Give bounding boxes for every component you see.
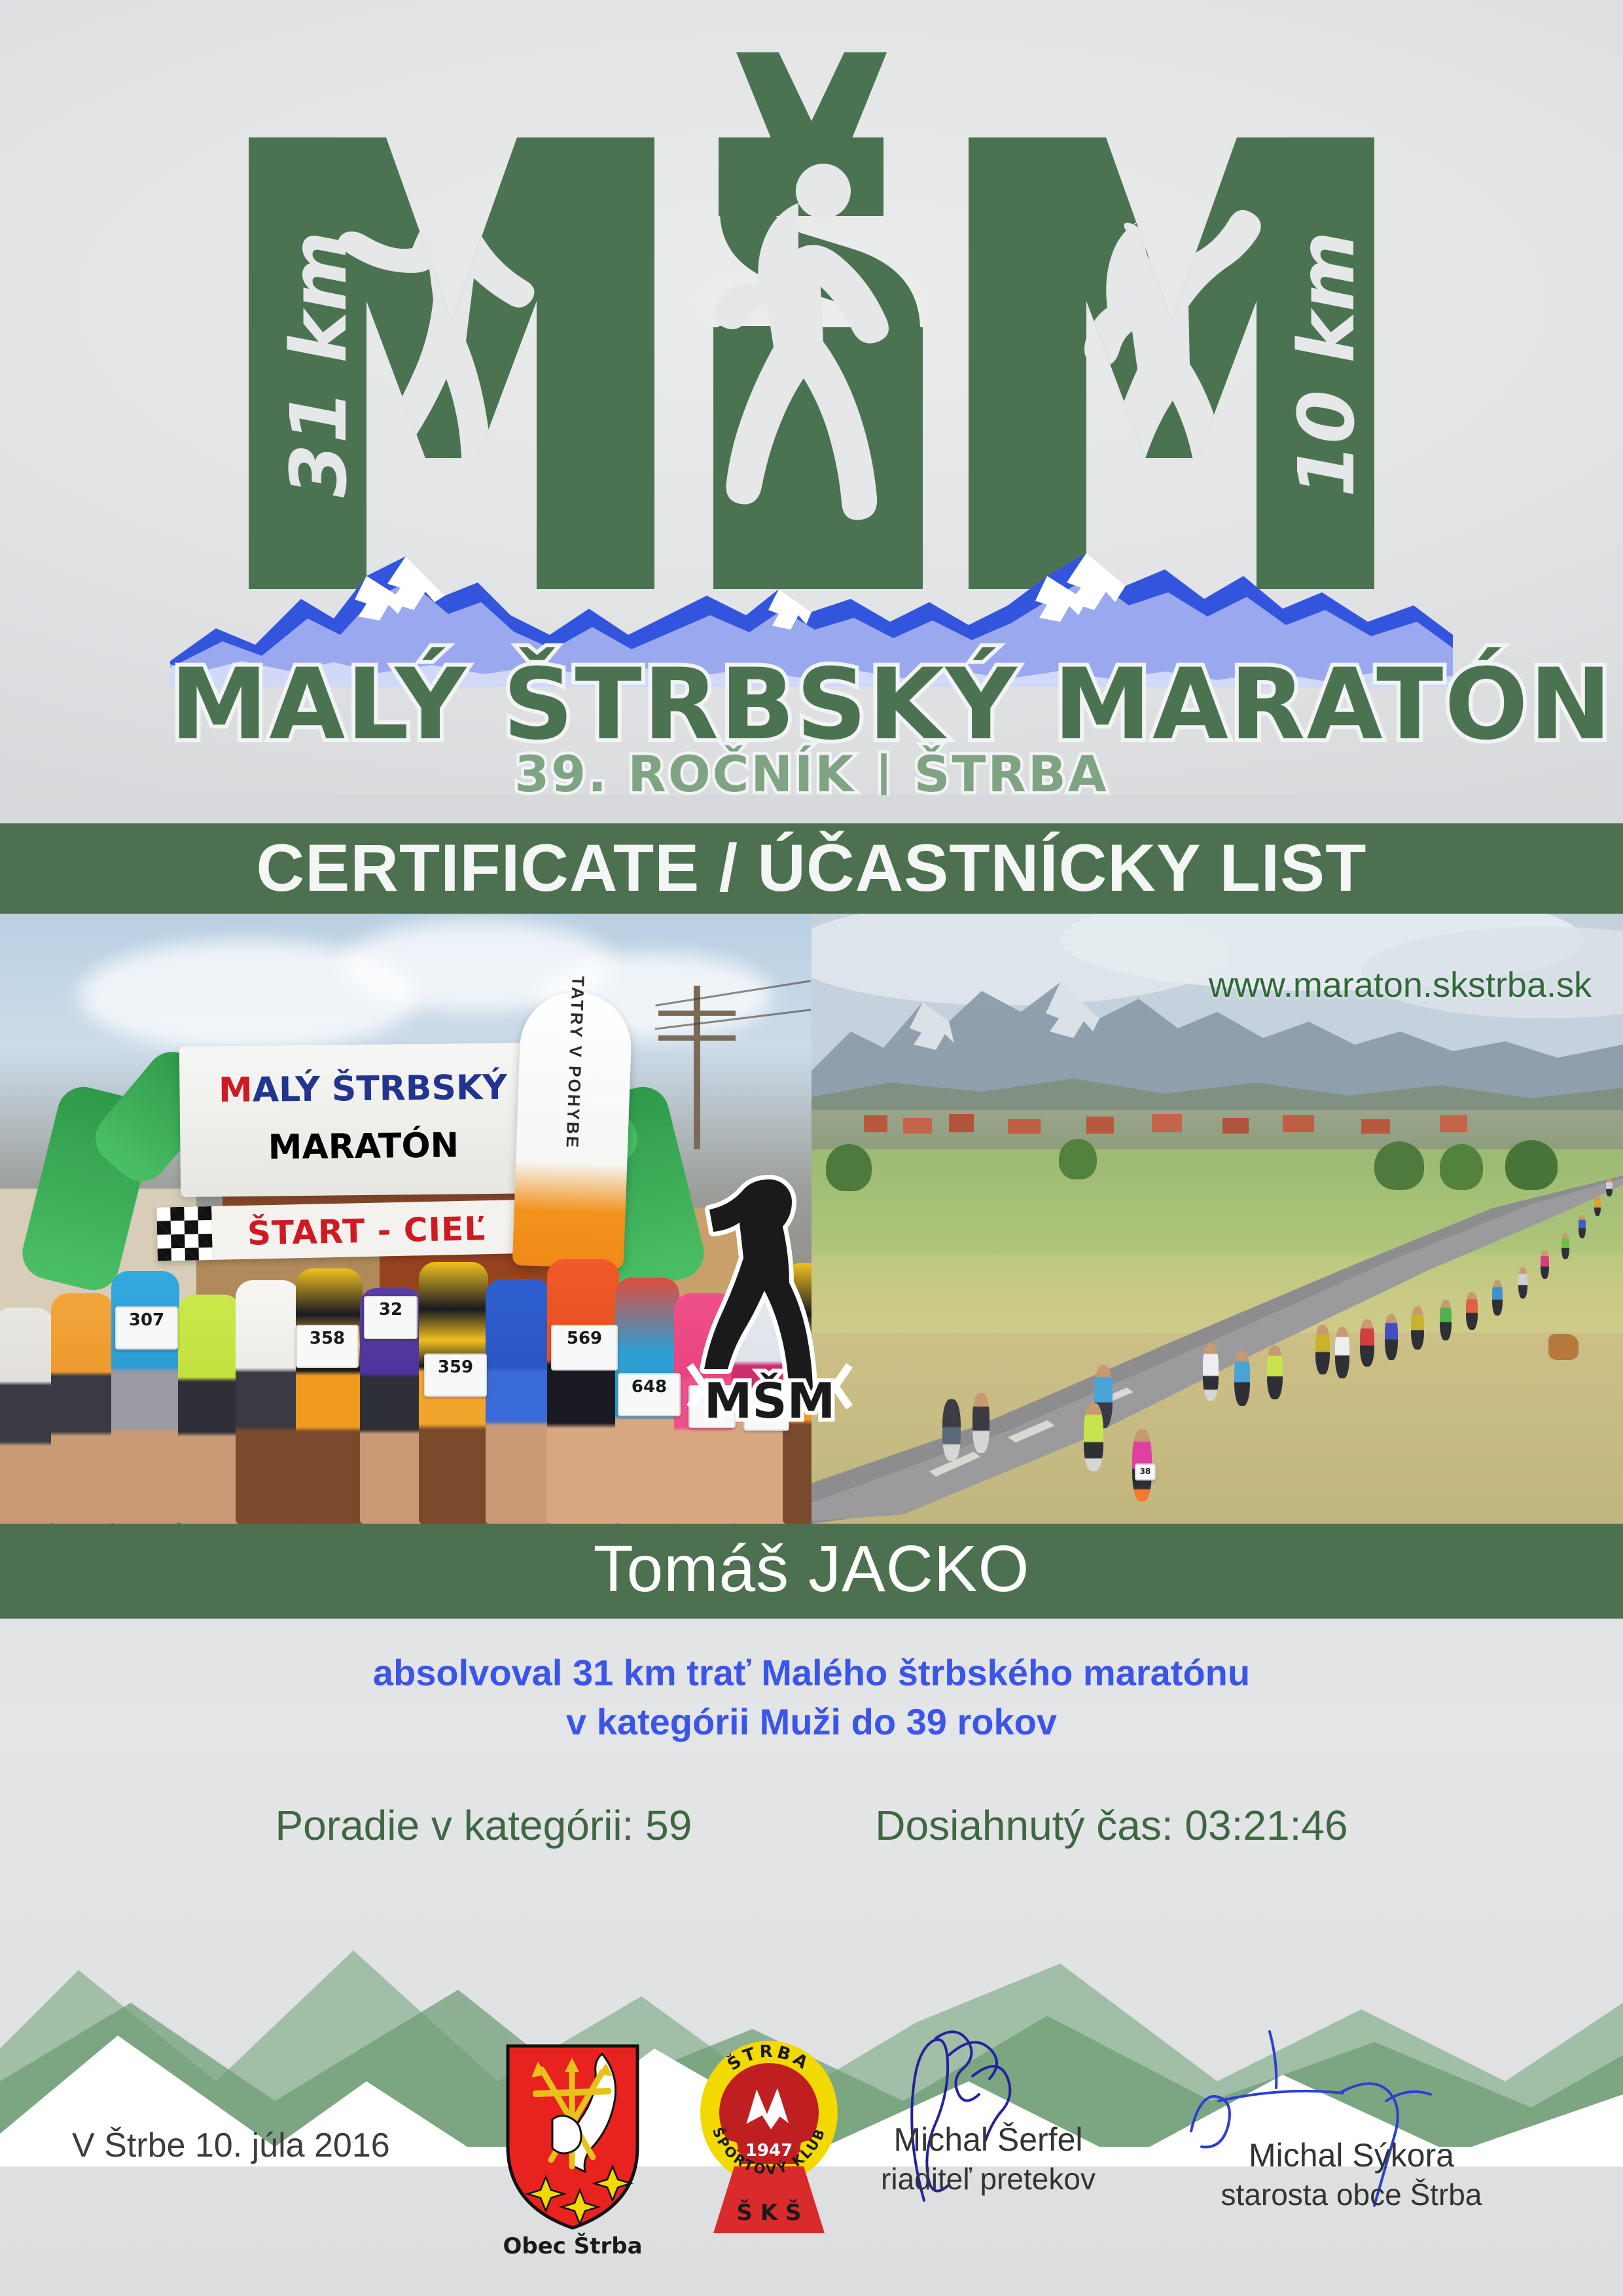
bib-number: 32 xyxy=(364,1296,418,1339)
certificate-page: 31 km 10 km xyxy=(0,0,1623,2296)
arch-l2-red: M xyxy=(268,1128,302,1168)
signature-1-role: riaditeľ pretekov xyxy=(844,2161,1132,2197)
event-subtitle-text: 39. ROČNÍK | ŠTRBA xyxy=(514,745,1108,795)
footer: V Štrbe 10. júla 2016 Obec xyxy=(0,2081,1623,2296)
issue-date: V Štrbe 10. júla 2016 xyxy=(72,2126,390,2165)
arch-l1-rest: ALÝ xyxy=(253,1070,321,1110)
certificate-title: CERTIFICATE / ÚČASTNÍCKY LIST xyxy=(0,830,1623,906)
signature-2-name: Michal Sýkora xyxy=(1198,2136,1505,2174)
signature-1-name: Michal Šerfel xyxy=(844,2121,1132,2159)
right-distance-label: 10 km xyxy=(1281,231,1372,497)
side-flag: TATRY V POHYBE xyxy=(512,990,633,1269)
bib-number: 358 xyxy=(296,1325,359,1368)
course-road xyxy=(811,1175,1623,1524)
msm-logo-svg: 31 km 10 km xyxy=(170,39,1453,589)
event-subtitle: 39. ROČNÍK | ŠTRBA xyxy=(170,745,1453,795)
signature-2-role: starosta obce Štrba xyxy=(1198,2177,1505,2212)
result-row: Poradie v kategórii: 59 Dosiahnutý čas: … xyxy=(0,1801,1623,1850)
desc-line-2: v kategórii Muži do 39 rokov xyxy=(0,1697,1623,1746)
participant-name: Tomáš JACKO xyxy=(0,1532,1623,1607)
msm-badge-text: MŠM xyxy=(704,1372,836,1429)
municipality-crest-icon xyxy=(504,2042,641,2232)
sports-club-logo-icon: 1947 ŠTRBA ŠPORTOVÝ KLUB Š K Š xyxy=(694,2036,844,2238)
signature-2: Michal Sýkora starosta obce Štrba xyxy=(1198,2136,1505,2212)
course-photo: www.maraton.skstrba.sk xyxy=(811,914,1623,1524)
bib-number: 38 xyxy=(1135,1463,1156,1480)
finish-time: Dosiahnutý čas: 03:21:46 xyxy=(875,1801,1347,1850)
municipality-label: Obec Štrba xyxy=(497,2233,648,2259)
tatra-mountains-photo xyxy=(811,914,1623,1130)
left-distance-label: 31 km xyxy=(274,231,364,497)
bib-number: 569 xyxy=(551,1325,618,1371)
side-flag-text: TATRY V POHYBE xyxy=(562,976,588,1150)
bib-number: 307 xyxy=(115,1306,178,1350)
club-year: 1947 xyxy=(745,2141,793,2161)
achievement-description: absolvoval 31 km trať Malého štrbského m… xyxy=(0,1648,1623,1746)
desc-line-1: absolvoval 31 km trať Malého štrbského m… xyxy=(0,1648,1623,1697)
category-rank: Poradie v kategórii: 59 xyxy=(275,1801,692,1850)
arch-l2-rest: ARATÓN xyxy=(302,1126,459,1167)
photo-strip: MALÝ ŠTRBSKÝ MARATÓN ŠTART - CIEĽ TATRY … xyxy=(0,914,1623,1524)
bib-number: 359 xyxy=(424,1354,487,1397)
website-url: www.maraton.skstrba.sk xyxy=(1209,965,1592,1005)
arch-l1-red: M xyxy=(219,1071,253,1111)
msm-logo: 31 km 10 km xyxy=(170,39,1453,589)
arch-line-2: MARATÓN xyxy=(180,1125,547,1168)
arch-banner: MALÝ ŠTRBSKÝ MARATÓN xyxy=(179,1043,547,1197)
signature-1: Michal Šerfel riaditeľ pretekov xyxy=(844,2121,1132,2197)
msm-runner-badge-icon: MŠM xyxy=(685,1161,855,1436)
arch-line-1: MALÝ ŠTRBSKÝ xyxy=(179,1067,546,1111)
bib-number: 648 xyxy=(618,1373,681,1416)
club-initials: Š K Š xyxy=(737,2199,802,2226)
logo-header-zone: 31 km 10 km xyxy=(0,0,1623,795)
arch-l1-b: ŠTRBSKÝ xyxy=(332,1068,508,1109)
